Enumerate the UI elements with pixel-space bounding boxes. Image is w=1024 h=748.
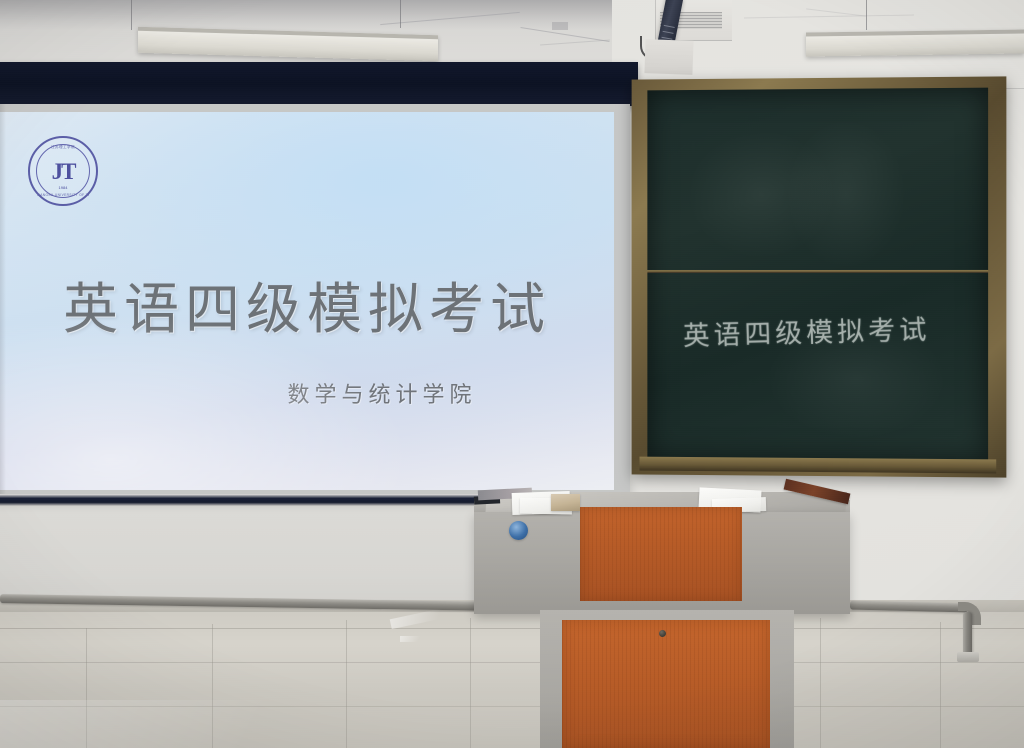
chalk-smudge [687,129,836,259]
blackboard-frame: 英语四级模拟考试 [632,76,1007,477]
logo-monogram: JT [52,160,75,183]
floor [0,608,1024,748]
light-suspension-wire [131,0,132,30]
light-suspension-wire [400,0,401,28]
podium-front-panel [580,507,742,601]
floor-tile-line [470,618,471,748]
slide-subtitle: 数学与统计学院 [0,377,614,409]
wall-bracket [644,39,693,75]
light-suspension-wire [866,0,867,30]
mic-band [663,31,674,34]
floor-tile-line [820,618,821,748]
blackboard-chalk-text: 英语四级模拟考试 [682,308,931,353]
logo-arc-bottom-text: JIANGSU UNIVERSITY OF TECHNOLOGY [37,193,89,197]
floor-tile-line [0,706,1024,707]
ceiling-light-right [806,29,1024,56]
slide-title: 英语四级模拟考试 [0,264,614,344]
chalk-smudge [786,118,906,269]
logo-ring: 江苏理工学院 JT 1984 JIANGSU UNIVERSITY OF TEC… [36,144,90,198]
blackboard-rail [647,270,988,273]
floor-tile-line [346,620,347,748]
blackboard[interactable]: 英语四级模拟考试 [647,88,988,463]
pipe-flange [957,652,979,662]
logo-year: 1984 [37,185,89,190]
classroom-scene: 江苏理工学院 JT 1984 JIANGSU UNIVERSITY OF TEC… [0,0,1024,748]
floor-tile-line [0,662,1024,663]
projection-screen-case [0,62,638,106]
wall-blemish [552,22,568,30]
floor-tile-line [212,624,213,748]
projection-screen[interactable]: 江苏理工学院 JT 1984 JIANGSU UNIVERSITY OF TEC… [0,104,630,500]
mic-band [664,25,675,28]
projected-slide: 江苏理工学院 JT 1984 JIANGSU UNIVERSITY OF TEC… [0,112,614,490]
podium-cabinet-door[interactable] [562,620,770,748]
podium-blue-sticker [509,521,528,540]
screen-edge-shadow [0,104,6,500]
floor-tile-line [940,622,941,748]
floor-tile-line [86,628,87,748]
university-logo: 江苏理工学院 JT 1984 JIANGSU UNIVERSITY OF TEC… [28,136,98,206]
cabinet-lock-icon[interactable] [659,630,666,637]
floor-tile-line [0,628,1024,629]
chalk-box[interactable] [551,494,580,511]
logo-arc-top-text: 江苏理工学院 [37,145,89,150]
chalk-ledge [639,457,996,474]
